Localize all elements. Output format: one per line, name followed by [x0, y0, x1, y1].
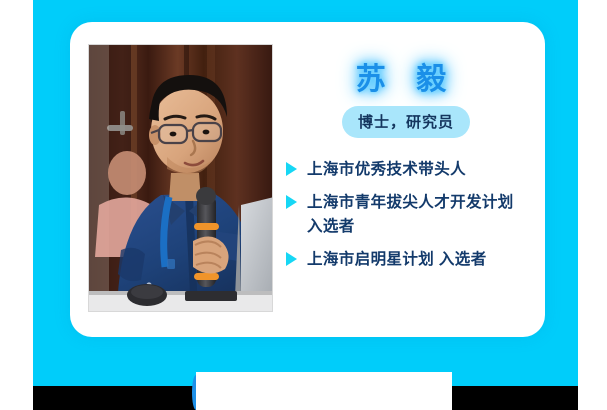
speaker-portrait-photo — [88, 44, 273, 312]
profile-card-screen: 苏 毅 博士，研究员 上海市优秀技术带头人 上海市青年拔尖人才开发计划 入选者 … — [0, 0, 607, 410]
honors-list: 上海市优秀技术带头人 上海市青年拔尖人才开发计划 入选者 上海市启明星计划 入选… — [286, 158, 530, 272]
honor-text: 上海市启明星计划 入选者 — [307, 248, 487, 272]
triangle-bullet-icon — [286, 195, 297, 209]
person-title-badge-container: 博士，研究员 — [282, 106, 530, 138]
profile-content: 苏 毅 博士，研究员 上海市优秀技术带头人 上海市青年拔尖人才开发计划 入选者 … — [282, 40, 530, 320]
person-name-container: 苏 毅 — [282, 40, 530, 100]
triangle-bullet-icon — [286, 162, 297, 176]
bottom-white-tab — [196, 372, 452, 410]
honor-text: 上海市青年拔尖人才开发计划 入选者 — [307, 191, 530, 239]
person-title-badge: 博士，研究员 — [342, 106, 470, 138]
list-item: 上海市优秀技术带头人 — [286, 158, 530, 182]
triangle-bullet-icon — [286, 252, 297, 266]
list-item: 上海市青年拔尖人才开发计划 入选者 — [286, 191, 530, 239]
person-name: 苏 毅 — [356, 54, 456, 98]
honor-text: 上海市优秀技术带头人 — [307, 158, 466, 182]
profile-card: 苏 毅 博士，研究员 上海市优秀技术带头人 上海市青年拔尖人才开发计划 入选者 … — [70, 22, 545, 337]
list-item: 上海市启明星计划 入选者 — [286, 248, 530, 272]
